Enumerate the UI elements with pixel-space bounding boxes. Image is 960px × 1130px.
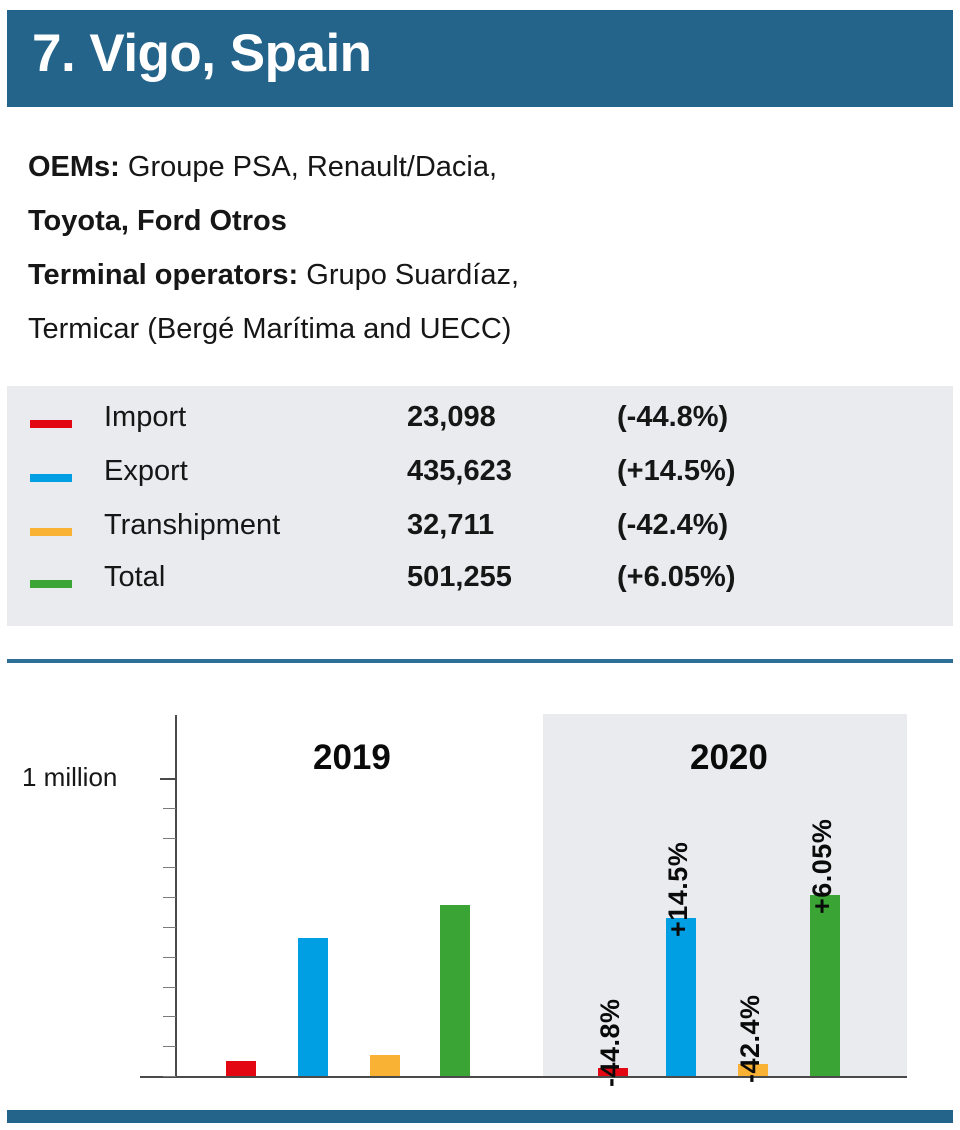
bar-chart: 1 million 2019 2020 -44.8%+14.5%-42.4%+6…: [0, 663, 960, 1110]
legend-pct-total: (+6.05%): [617, 561, 735, 594]
port-info-block: OEMs: Groupe PSA, Renault/Dacia, Toyota,…: [28, 140, 728, 356]
legend-label-total: Total: [104, 561, 165, 594]
page-root: 7. Vigo, Spain OEMs: Groupe PSA, Renault…: [0, 0, 960, 1130]
legend-swatch-transhipment-icon: [30, 528, 72, 536]
statistics-legend-panel: Import 23,098 (-44.8%) Export 435,623 (+…: [7, 386, 953, 626]
legend-row-export: Export 435,623 (+14.5%): [7, 452, 953, 506]
legend-label-import: Import: [104, 401, 186, 434]
legend-pct-import: (-44.8%): [617, 401, 728, 434]
page-title: 7. Vigo, Spain: [32, 23, 372, 84]
legend-swatch-total-icon: [30, 580, 72, 588]
legend-row-transhipment: Transhipment 32,711 (-42.4%): [7, 506, 953, 560]
chart-x-axis: [140, 1076, 907, 1078]
legend-pct-export: (+14.5%): [617, 455, 735, 488]
oems-value-2: Toyota, Ford Otros: [28, 205, 287, 237]
legend-pct-transhipment: (-42.4%): [617, 509, 728, 542]
chart-bar-2019-import: [226, 1061, 256, 1076]
oems-label: OEMs:: [28, 151, 120, 183]
terminal-operators-line-1: Terminal operators: Grupo Suardíaz,: [28, 248, 728, 302]
oems-line-1: OEMs: Groupe PSA, Renault/Dacia,: [28, 140, 728, 194]
chart-bar-2020-export: [666, 918, 696, 1076]
y-axis-minor-tick: [163, 1076, 176, 1077]
legend-value-total: 501,255: [407, 561, 512, 594]
page-footer-bar: [7, 1110, 953, 1123]
legend-row-import: Import 23,098 (-44.8%): [7, 398, 953, 452]
page-header: 7. Vigo, Spain: [7, 10, 953, 107]
oems-value-1: Groupe PSA, Renault/Dacia,: [120, 151, 497, 183]
legend-value-transhipment: 32,711: [407, 509, 494, 542]
terminal-operators-line-2: Termicar (Bergé Marítima and UECC): [28, 302, 728, 356]
terminal-operators-value-1: Grupo Suardíaz,: [298, 259, 519, 291]
chart-bar-2020-total: [810, 895, 840, 1076]
terminal-operators-label: Terminal operators:: [28, 259, 298, 291]
legend-swatch-import-icon: [30, 420, 72, 428]
legend-label-transhipment: Transhipment: [104, 509, 280, 542]
legend-value-import: 23,098: [407, 401, 496, 434]
legend-swatch-export-icon: [30, 474, 72, 482]
legend-label-export: Export: [104, 455, 188, 488]
legend-value-export: 435,623: [407, 455, 512, 488]
chart-bar-label-2020-total: +6.05%: [807, 818, 838, 913]
chart-bar-label-2020-import: -44.8%: [595, 998, 626, 1087]
chart-bar-2019-transhipment: [370, 1055, 400, 1076]
chart-bars-layer: -44.8%+14.5%-42.4%+6.05%: [0, 663, 960, 1076]
terminal-operators-value-2: Termicar (Bergé Marítima and UECC): [28, 313, 511, 345]
legend-row-total: Total 501,255 (+6.05%): [7, 558, 953, 612]
chart-bar-label-2020-export: +14.5%: [663, 842, 694, 937]
chart-bar-2019-total: [440, 905, 470, 1076]
oems-line-2: Toyota, Ford Otros: [28, 194, 728, 248]
chart-bar-label-2020-transhipment: -42.4%: [735, 995, 766, 1084]
chart-bar-2019-export: [298, 938, 328, 1076]
